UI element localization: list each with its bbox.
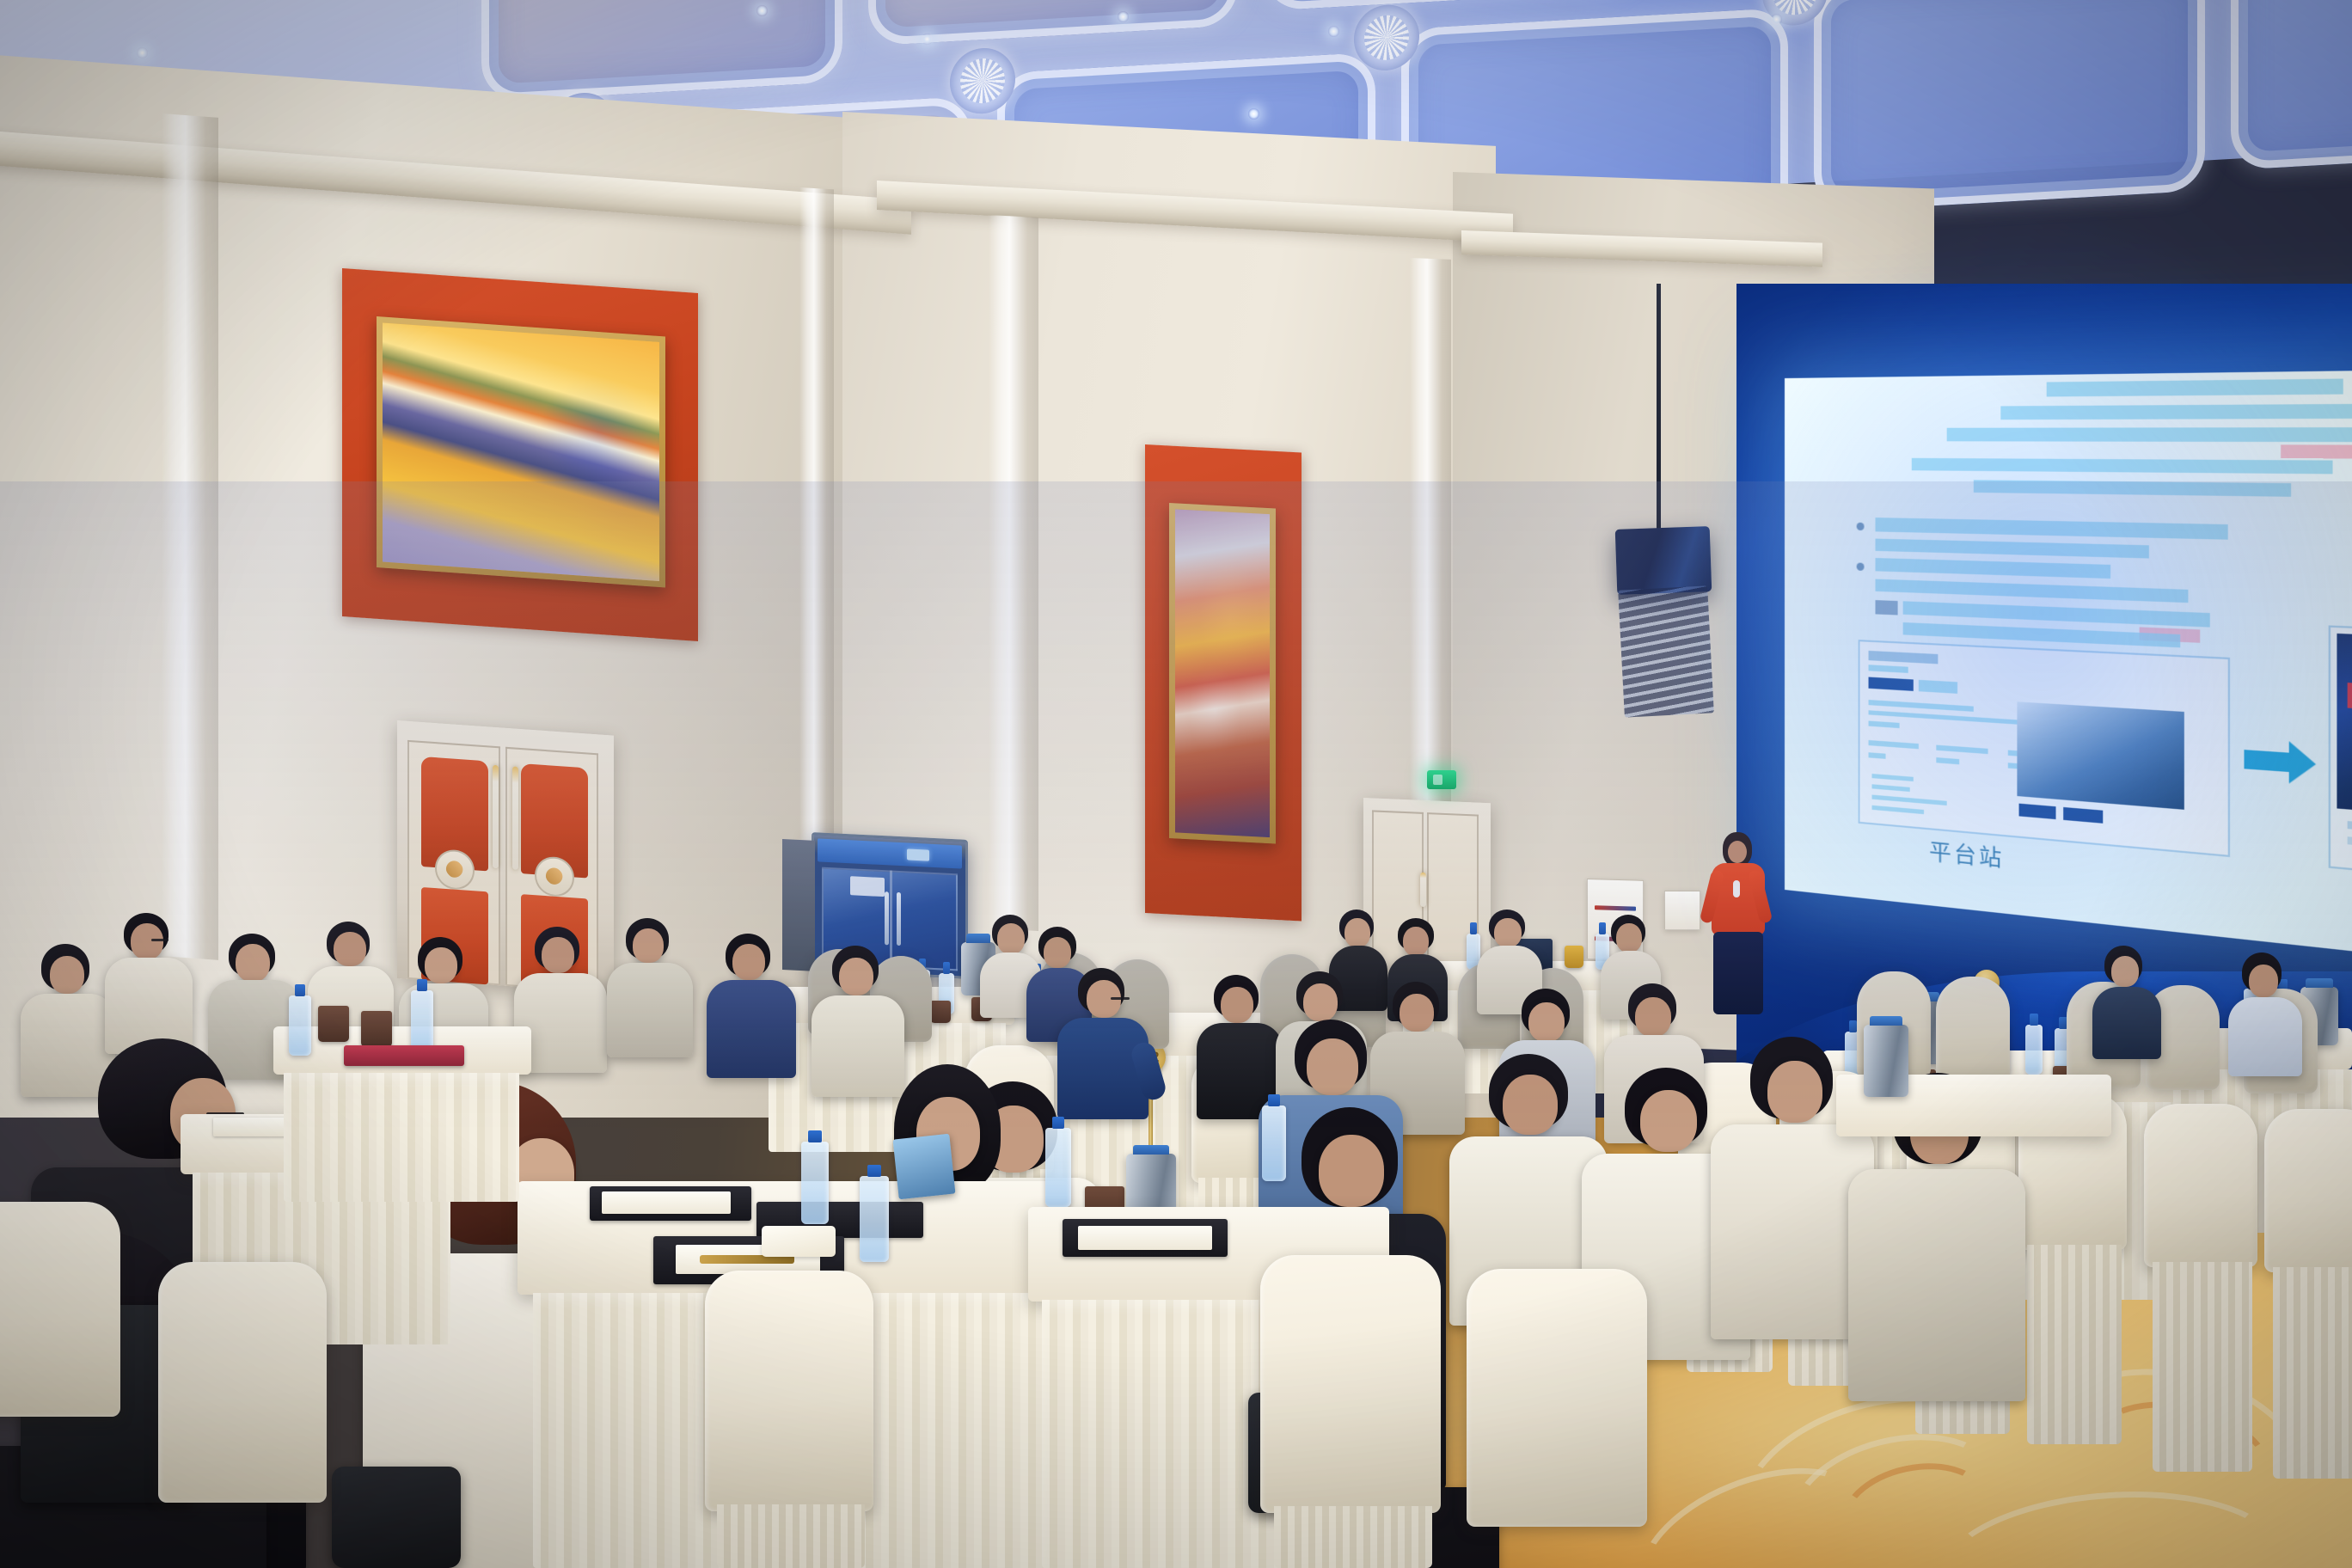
- chair-skirt: [2027, 1245, 2122, 1444]
- water-bottle[interactable]: [289, 995, 311, 1056]
- notepad: [602, 1191, 731, 1214]
- banquet-chair[interactable]: [0, 1202, 120, 1417]
- wall-notice-sign: [1664, 891, 1700, 930]
- thermos-flask: [1864, 1025, 1908, 1097]
- banquet-chair[interactable]: [705, 1271, 873, 1511]
- arrow-right-icon: [2289, 741, 2316, 786]
- tea-cup: [361, 1011, 392, 1047]
- placemat: [344, 1045, 464, 1066]
- door-handle[interactable]: [512, 766, 518, 869]
- banquet-chair[interactable]: [1467, 1269, 1647, 1527]
- chair-skirt: [1274, 1506, 1432, 1568]
- painting-canvas: [383, 322, 659, 581]
- abstract-figure-painting: [1169, 503, 1276, 843]
- napkin: [762, 1226, 836, 1257]
- slide-mobile-mock: [2329, 625, 2352, 882]
- exit-sign: [1427, 770, 1456, 789]
- banquet-chair[interactable]: [158, 1262, 327, 1503]
- downlight: [756, 5, 768, 16]
- banquet-chair[interactable]: [2144, 1104, 2257, 1267]
- conference-hall-photo: 平台站 12: [0, 0, 2352, 1568]
- wall-pilaster: [799, 187, 834, 894]
- banquet-chair[interactable]: [1260, 1255, 1441, 1513]
- tea-cup: [318, 1006, 349, 1042]
- downlight: [137, 47, 148, 58]
- downlight: [1118, 11, 1129, 22]
- water-bottle: [2025, 1025, 2043, 1075]
- downlight: [1328, 26, 1339, 37]
- speaker-suspension-cable: [1657, 284, 1661, 533]
- wall-pilaster: [162, 113, 218, 960]
- chair-skirt: [717, 1504, 865, 1568]
- slide-embedded-photo: [2017, 701, 2184, 810]
- handbag: [332, 1467, 461, 1568]
- microphone: [1733, 880, 1740, 897]
- banquet-chair[interactable]: [2264, 1109, 2352, 1272]
- slide-caption: 平台站: [1929, 834, 2004, 873]
- water-bottle[interactable]: [1045, 1128, 1071, 1207]
- slide-screenshot-card: [1859, 640, 2230, 857]
- downlight: [1771, 14, 1782, 25]
- chair-skirt: [2273, 1267, 2352, 1479]
- cooler-side-cabinet: [782, 839, 815, 971]
- table-skirt: [284, 1073, 519, 1202]
- water-bottle[interactable]: [411, 990, 433, 1052]
- chair-skirt: [2153, 1262, 2252, 1472]
- tea-cup: [1565, 946, 1583, 968]
- downlight: [922, 34, 933, 45]
- door-handle[interactable]: [493, 765, 499, 868]
- projection-screen: 平台站: [1785, 370, 2352, 957]
- tea-cup: [930, 1001, 951, 1023]
- wall-pilaster: [989, 215, 1038, 931]
- notepad: [1078, 1226, 1212, 1250]
- line-array-speaker: [1615, 526, 1712, 595]
- abstract-landscape-painting: [377, 316, 665, 587]
- arrow-right-icon: [2244, 750, 2291, 772]
- water-bottle[interactable]: [1262, 1106, 1286, 1181]
- downlight: [1248, 108, 1259, 119]
- speaker-grill: [1618, 585, 1714, 717]
- water-bottle[interactable]: [801, 1142, 829, 1224]
- tablet[interactable]: [893, 1134, 956, 1200]
- water-bottle[interactable]: [860, 1176, 889, 1262]
- banquet-chair[interactable]: [1936, 977, 2010, 1083]
- painting-canvas: [1175, 509, 1270, 837]
